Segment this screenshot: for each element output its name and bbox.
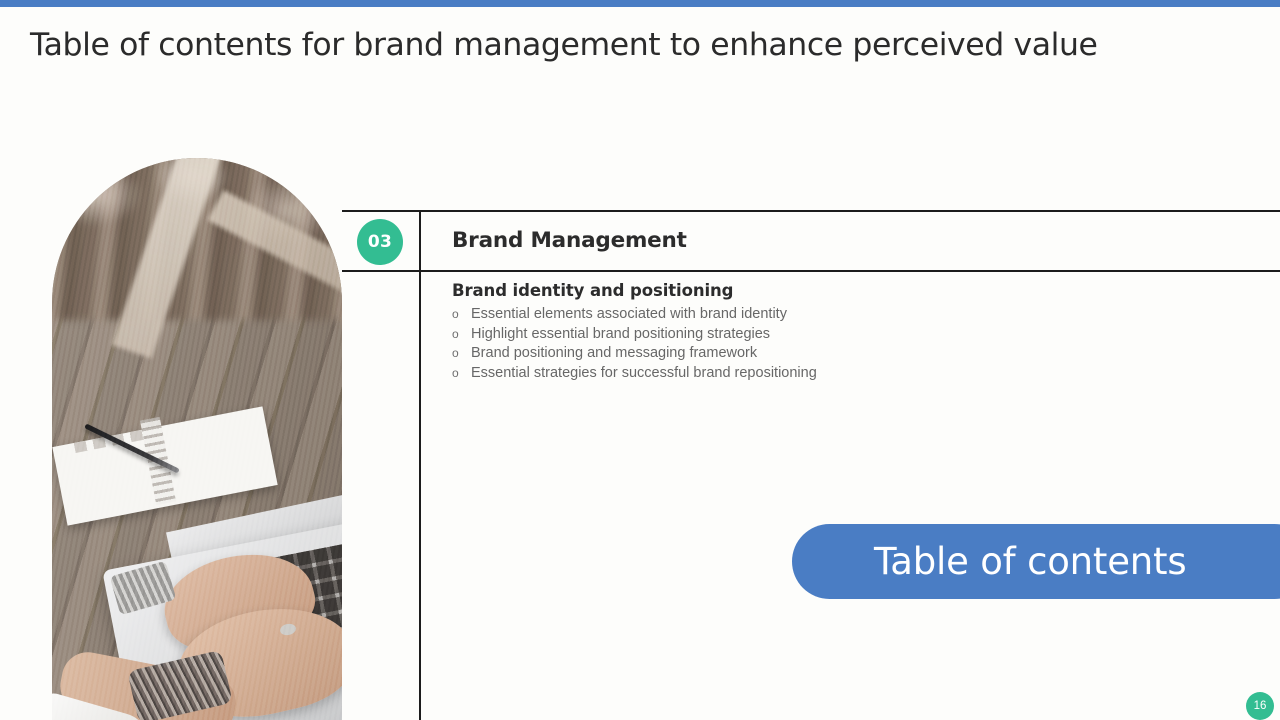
circle-bullet-icon: o	[452, 305, 471, 325]
section-body: Brand identity and positioning o Essenti…	[452, 281, 1052, 383]
table-header-rule	[342, 270, 1280, 272]
table-of-contents-banner-label: Table of contents	[874, 540, 1186, 583]
list-item-label: Essential strategies for successful bran…	[471, 364, 817, 384]
laptop-typing-photo	[52, 158, 342, 720]
section-number-badge: 03	[357, 219, 403, 265]
list-item-label: Highlight essential brand positioning st…	[471, 325, 770, 345]
section-bullet-list: o Essential elements associated with bra…	[452, 305, 1052, 383]
circle-bullet-icon: o	[452, 364, 471, 384]
page-number-badge: 16	[1246, 692, 1274, 720]
circle-bullet-icon: o	[452, 344, 471, 364]
section-subheading: Brand identity and positioning	[452, 281, 1052, 300]
list-item-label: Essential elements associated with brand…	[471, 305, 787, 325]
list-item-label: Brand positioning and messaging framewor…	[471, 344, 757, 364]
section-heading: Brand Management	[452, 228, 687, 253]
table-top-rule	[342, 210, 1280, 212]
list-item: o Essential elements associated with bra…	[452, 305, 1052, 325]
list-item: o Essential strategies for successful br…	[452, 364, 1052, 384]
table-column-divider	[419, 210, 421, 720]
slide-canvas: Table of contents for brand management t…	[0, 0, 1280, 720]
list-item: o Brand positioning and messaging framew…	[452, 344, 1052, 364]
top-accent-stripe	[0, 0, 1280, 7]
page-title: Table of contents for brand management t…	[30, 27, 1250, 63]
list-item: o Highlight essential brand positioning …	[452, 325, 1052, 345]
table-of-contents-banner[interactable]: Table of contents	[792, 524, 1280, 599]
circle-bullet-icon: o	[452, 325, 471, 345]
